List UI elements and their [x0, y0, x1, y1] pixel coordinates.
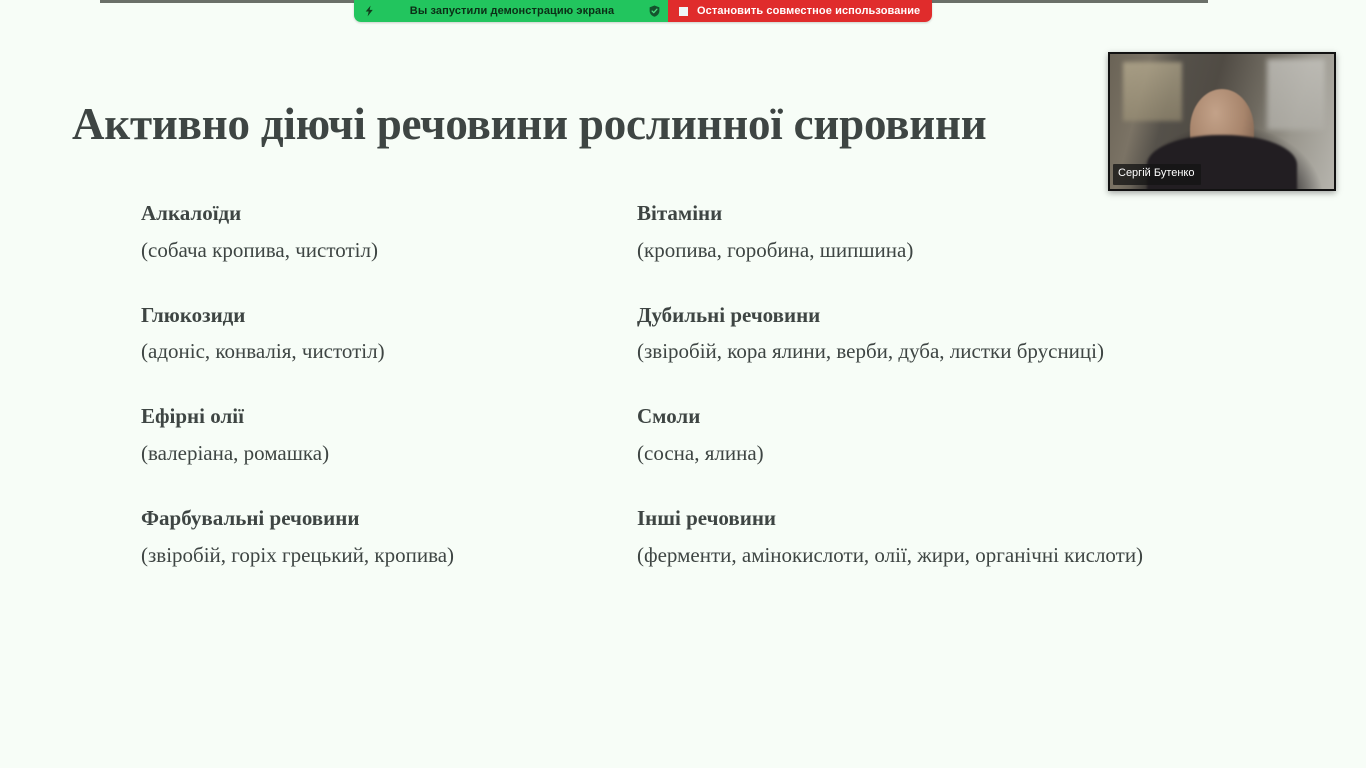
substance-sources: (звіробій, кора ялини, верби, дуба, лист… [637, 337, 1197, 366]
substance-term: Дубильні речовини [637, 302, 1366, 330]
screen-cast-icon [363, 4, 376, 18]
substance-sources: (валеріана, ромашка) [141, 439, 620, 468]
substance-sources: (ферменти, амінокислоти, олії, жири, орг… [637, 541, 1197, 570]
list-item: Ефірні олії (валеріана, ромашка) [141, 403, 620, 468]
right-column: Вітаміни (кропива, горобина, шипшина) Ду… [620, 200, 1366, 570]
list-item: Вітаміни (кропива, горобина, шипшина) [637, 200, 1366, 265]
substance-term: Ефірні олії [141, 403, 620, 431]
screen-share-message: Вы запустили демонстрацию экрана [384, 5, 640, 17]
substance-sources: (адоніс, конвалія, чистотіл) [141, 337, 620, 366]
substance-term: Фарбувальні речовини [141, 505, 620, 533]
video-background-picture-left [1123, 62, 1181, 121]
substance-sources: (звіробій, горіх грецький, кропива) [141, 541, 620, 570]
list-item: Смоли (сосна, ялина) [637, 403, 1366, 468]
list-item: Фарбувальні речовини (звіробій, горіх гр… [141, 505, 620, 570]
list-item: Інші речовини (ферменти, амінокислоти, о… [637, 505, 1366, 570]
substance-term: Глюкозиди [141, 302, 620, 330]
left-column: Алкалоїди (собача кропива, чистотіл) Глю… [0, 200, 620, 570]
substance-sources: (сосна, ялина) [637, 439, 1197, 468]
screen-share-banner: Вы запустили демонстрацию экрана Останов… [354, 0, 932, 22]
slide-content-columns: Алкалоїди (собача кропива, чистотіл) Глю… [0, 200, 1366, 570]
stop-sharing-label: Остановить совместное использование [697, 5, 920, 17]
list-item: Глюкозиди (адоніс, конвалія, чистотіл) [141, 302, 620, 367]
substance-sources: (собача кропива, чистотіл) [141, 236, 620, 265]
shield-check-icon [648, 4, 661, 18]
stop-sharing-button[interactable]: Остановить совместное использование [668, 0, 932, 22]
participant-name-label: Сергій Бутенко [1113, 164, 1201, 185]
substance-term: Алкалоїди [141, 200, 620, 228]
stop-square-icon [679, 7, 688, 16]
slide-title: Активно діючі речовини рослинної сировин… [72, 98, 986, 150]
substance-term: Вітаміни [637, 200, 1366, 228]
video-background-picture-right [1267, 59, 1325, 129]
substance-sources: (кропива, горобина, шипшина) [637, 236, 1197, 265]
participant-video-tile[interactable]: Сергій Бутенко [1108, 52, 1336, 191]
list-item: Дубильні речовини (звіробій, кора ялини,… [637, 302, 1366, 367]
substance-term: Інші речовини [637, 505, 1366, 533]
substance-term: Смоли [637, 403, 1366, 431]
list-item: Алкалоїди (собача кропива, чистотіл) [141, 200, 620, 265]
screen-share-status: Вы запустили демонстрацию экрана [354, 0, 668, 22]
